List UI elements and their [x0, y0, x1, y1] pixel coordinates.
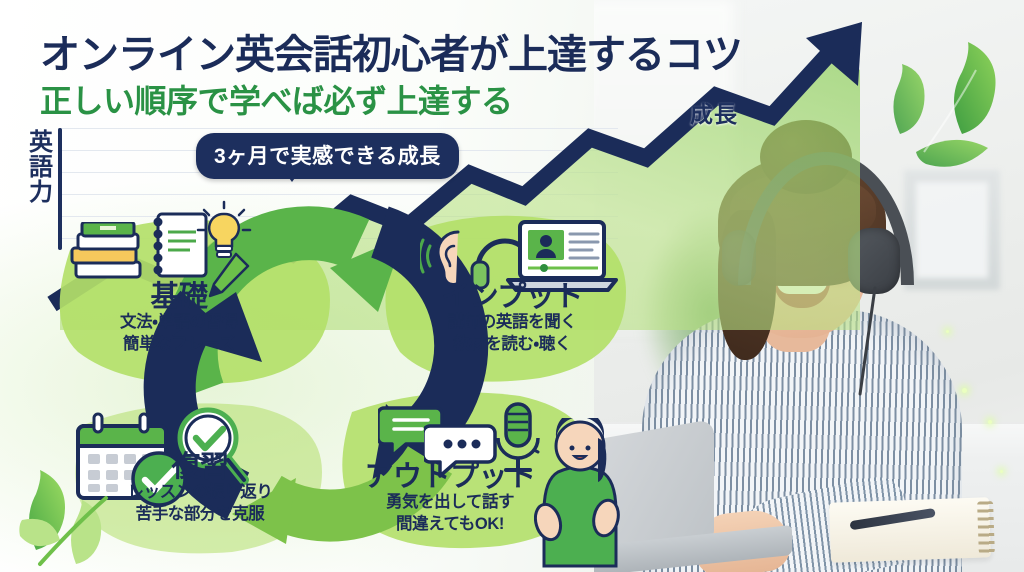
cycle-node-output-line2: 間違えてもOK! [352, 514, 548, 535]
cycle-node-output-line1: 勇気を出して話す [352, 492, 548, 513]
speaking-person-icon [534, 418, 630, 568]
page-subtitle: 正しい順序で学べば必ず上達する [40, 76, 513, 122]
page-title: オンライン英会話初心者が上達するコツ [40, 22, 742, 80]
cycle-node-kiso-line2: 簡単なフレーズ [86, 334, 272, 355]
cycle-node-kiso-line1: 文法・単語の習得 [86, 312, 272, 333]
status-badge: 3ヶ月で実感できる成長 [196, 133, 459, 179]
cycle-node-review-line2: 苦手な部分を克服 [100, 504, 300, 525]
cycle-node-input-line2: 教材を読む・聴く [414, 334, 610, 355]
badge-tail [281, 167, 303, 182]
cycle-node-output: アウトプット 勇気を出して話す 間違えてもOK! [352, 462, 548, 535]
books-icon [70, 222, 148, 284]
cycle-node-input-line1: 講師の英語を聞く [414, 312, 610, 333]
cycle-node-kiso-title: 基礎 [86, 282, 272, 312]
leaves-decoration-top-right [880, 36, 1024, 172]
cycle-node-input: インプット 講師の英語を聞く 教材を読む・聴く [414, 282, 610, 355]
cycle-node-kiso: 基礎 文法・単語の習得 簡単なフレーズ [86, 282, 272, 355]
cycle-node-review: 復習 レッスンの振り返り 苦手な部分を克服 [100, 452, 300, 525]
cycle-node-review-title: 復習 [100, 452, 300, 482]
cycle-node-review-line1: レッスンの振り返り [100, 482, 300, 503]
cycle-node-output-title: アウトプット [352, 462, 548, 492]
infographic-canvas: 英語力 成長 [0, 0, 1024, 572]
cycle-node-input-title: インプット [414, 282, 610, 312]
